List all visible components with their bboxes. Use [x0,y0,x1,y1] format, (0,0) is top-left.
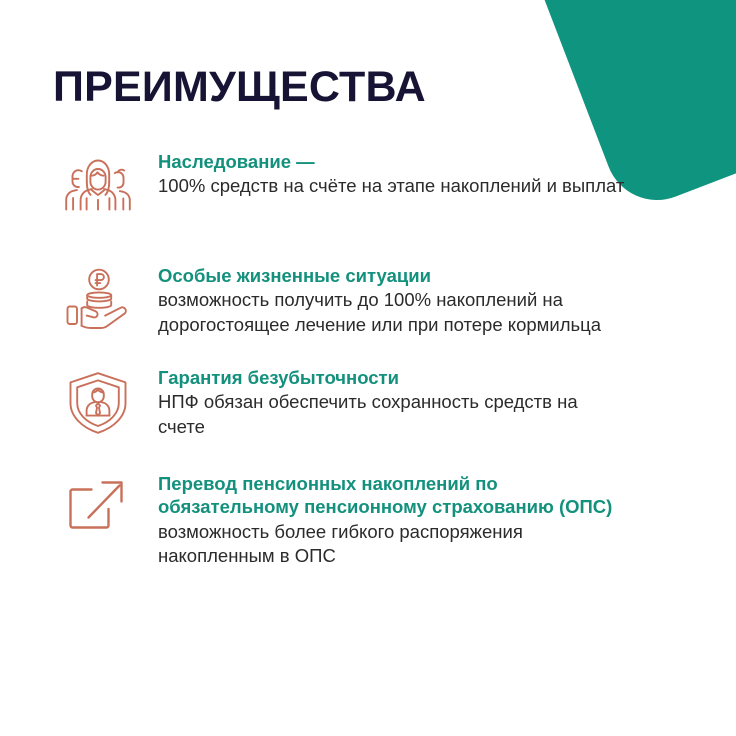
slide-root: ПРЕИМУЩЕСТВА [0,0,736,736]
page-title: ПРЕИМУЩЕСТВА [53,65,426,110]
benefit-description: 100% средств на счёте на этапе накоплени… [158,174,628,198]
benefit-text: Наследование — 100% средств на счёте на … [140,146,628,199]
benefit-description: возможность более гибкого распоряжения н… [158,520,628,569]
benefit-text: Особые жизненные ситуации возможность по… [140,260,628,337]
benefit-description: возможность получить до 100% накоплений … [158,288,628,337]
benefit-heading: Перевод пенсионных накоплений по обязате… [158,472,628,519]
benefit-item: Наследование — 100% средств на счёте на … [0,146,736,230]
benefit-heading: Наследование — [158,150,628,173]
benefit-item: Особые жизненные ситуации возможность по… [0,260,736,344]
shield-person-icon [56,362,140,446]
benefit-heading: Гарантия безубыточности [158,366,628,389]
benefit-text: Перевод пенсионных накоплений по обязате… [140,468,628,568]
benefit-description: НПФ обязан обеспечить сохранность средст… [158,390,628,439]
benefits-list: Наследование — 100% средств на счёте на … [0,146,736,568]
benefit-heading: Особые жизненные ситуации [158,264,628,287]
family-group-icon [56,146,140,230]
benefit-item: Гарантия безубыточности НПФ обязан обесп… [0,362,736,446]
benefit-item: Перевод пенсионных накоплений по обязате… [0,468,736,568]
benefit-text: Гарантия безубыточности НПФ обязан обесп… [140,362,628,439]
hand-holding-ruble-coins-icon [56,260,140,344]
export-arrow-icon [56,468,140,552]
